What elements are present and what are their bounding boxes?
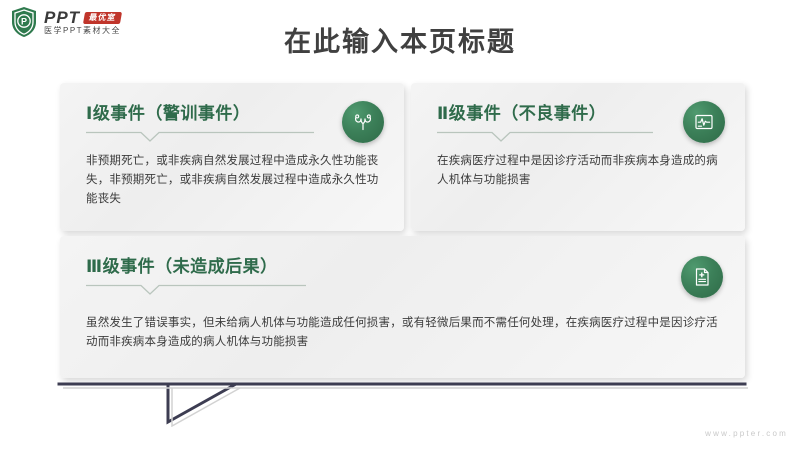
event-card-level-1[interactable]: Ⅰ级事件（警训事件） 非预期死亡，或非疾病自然发展过程中造成永久性功能丧失，非预… [60, 83, 404, 231]
card-heading: Ⅱ级事件（不良事件） [437, 105, 721, 124]
event-card-level-2[interactable]: Ⅱ级事件（不良事件） 在疾病医疗过程中是因诊疗活动而非疾病本身造成的病人机体与功… [411, 83, 745, 231]
heading-divider [86, 284, 721, 296]
event-card-level-3[interactable]: Ⅲ级事件（未造成后果） 虽然发生了错误事实，但未给病人机体与功能造成任何损害，或… [60, 236, 745, 378]
heading-divider [437, 131, 721, 143]
card-body-text: 非预期死亡，或非疾病自然发展过程中造成永久性功能丧失，非预期死亡，或非疾病自然发… [86, 152, 380, 209]
site-watermark: www.ppter.com [705, 429, 788, 438]
heading-divider [86, 131, 380, 143]
card-body-text: 虽然发生了错误事实，但未给病人机体与功能造成任何损害，或有轻微后果而不需任何处理… [86, 314, 721, 352]
bottom-arrow-decoration [55, 372, 755, 427]
card-body-text: 在疾病医疗过程中是因诊疗活动而非疾病本身造成的病人机体与功能损害 [437, 152, 721, 190]
card-heading: Ⅲ级事件（未造成后果） [86, 258, 721, 277]
uterus-anatomy-icon [342, 101, 384, 143]
page-title: 在此输入本页标题 [0, 20, 800, 59]
vital-signs-monitor-icon [683, 101, 725, 143]
card-heading: Ⅰ级事件（警训事件） [86, 105, 380, 124]
medical-report-icon [681, 256, 723, 298]
